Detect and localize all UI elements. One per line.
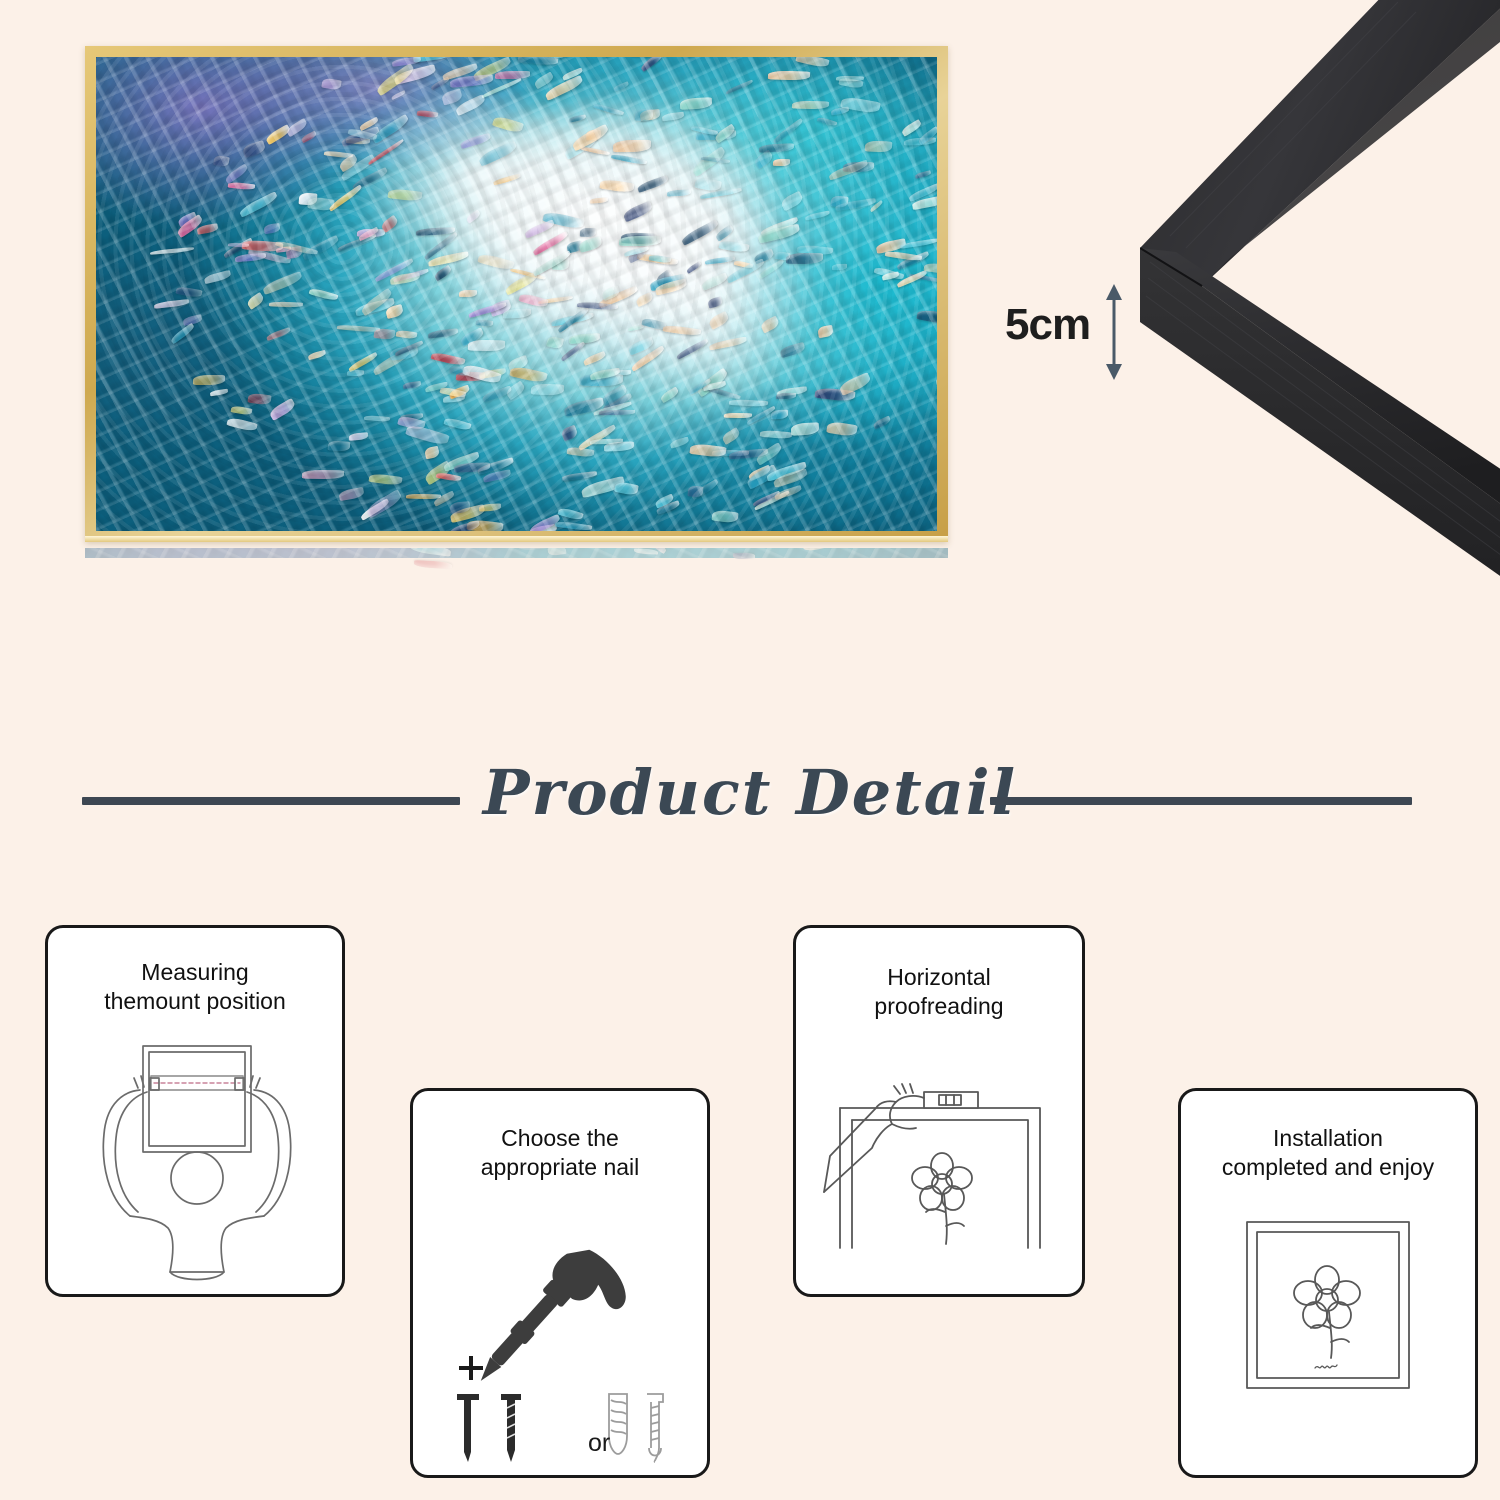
- hung-framed-flower-picture-icon: [1181, 1196, 1475, 1466]
- framed-painting: [85, 46, 948, 542]
- step-card-choose-nail: Choose the appropriate nail: [410, 1088, 710, 1478]
- black-wood-frame-corner: [1140, 0, 1500, 590]
- page-title: Product Detail: [0, 756, 1500, 829]
- step-card-title: Choose the appropriate nail: [423, 1124, 697, 1183]
- hammer-and-nails-icon: [413, 1196, 707, 1466]
- painting-reflection: [85, 548, 948, 900]
- step-card-title: Installation completed and enjoy: [1191, 1124, 1465, 1183]
- step-card-installation-complete: Installation completed and enjoy: [1178, 1088, 1478, 1478]
- section-rule-right: [990, 797, 1412, 805]
- product-listing-image: 5cm Product Detail Measuring themount po…: [0, 0, 1500, 1500]
- step-card-title: Measuring themount position: [58, 958, 332, 1017]
- hand-with-spirit-level-on-frame-icon: [796, 1036, 1082, 1286]
- reflection-fade-overlay: [85, 548, 948, 900]
- frame-depth-label: 5cm: [1005, 300, 1090, 350]
- or-label: or: [588, 1429, 610, 1458]
- painting-canvas: [96, 57, 937, 531]
- step-card-title: Horizontal proofreading: [806, 963, 1072, 1022]
- step-card-horizontal-proofreading: Horizontal proofreading: [793, 925, 1085, 1297]
- step-card-measuring: Measuring themount position: [45, 925, 345, 1297]
- person-holding-frame-with-ruler-icon: [48, 1028, 342, 1290]
- gold-frame: [85, 46, 948, 542]
- painting-impasto-texture-2: [96, 57, 937, 531]
- vertical-double-arrow-icon: [1097, 284, 1131, 380]
